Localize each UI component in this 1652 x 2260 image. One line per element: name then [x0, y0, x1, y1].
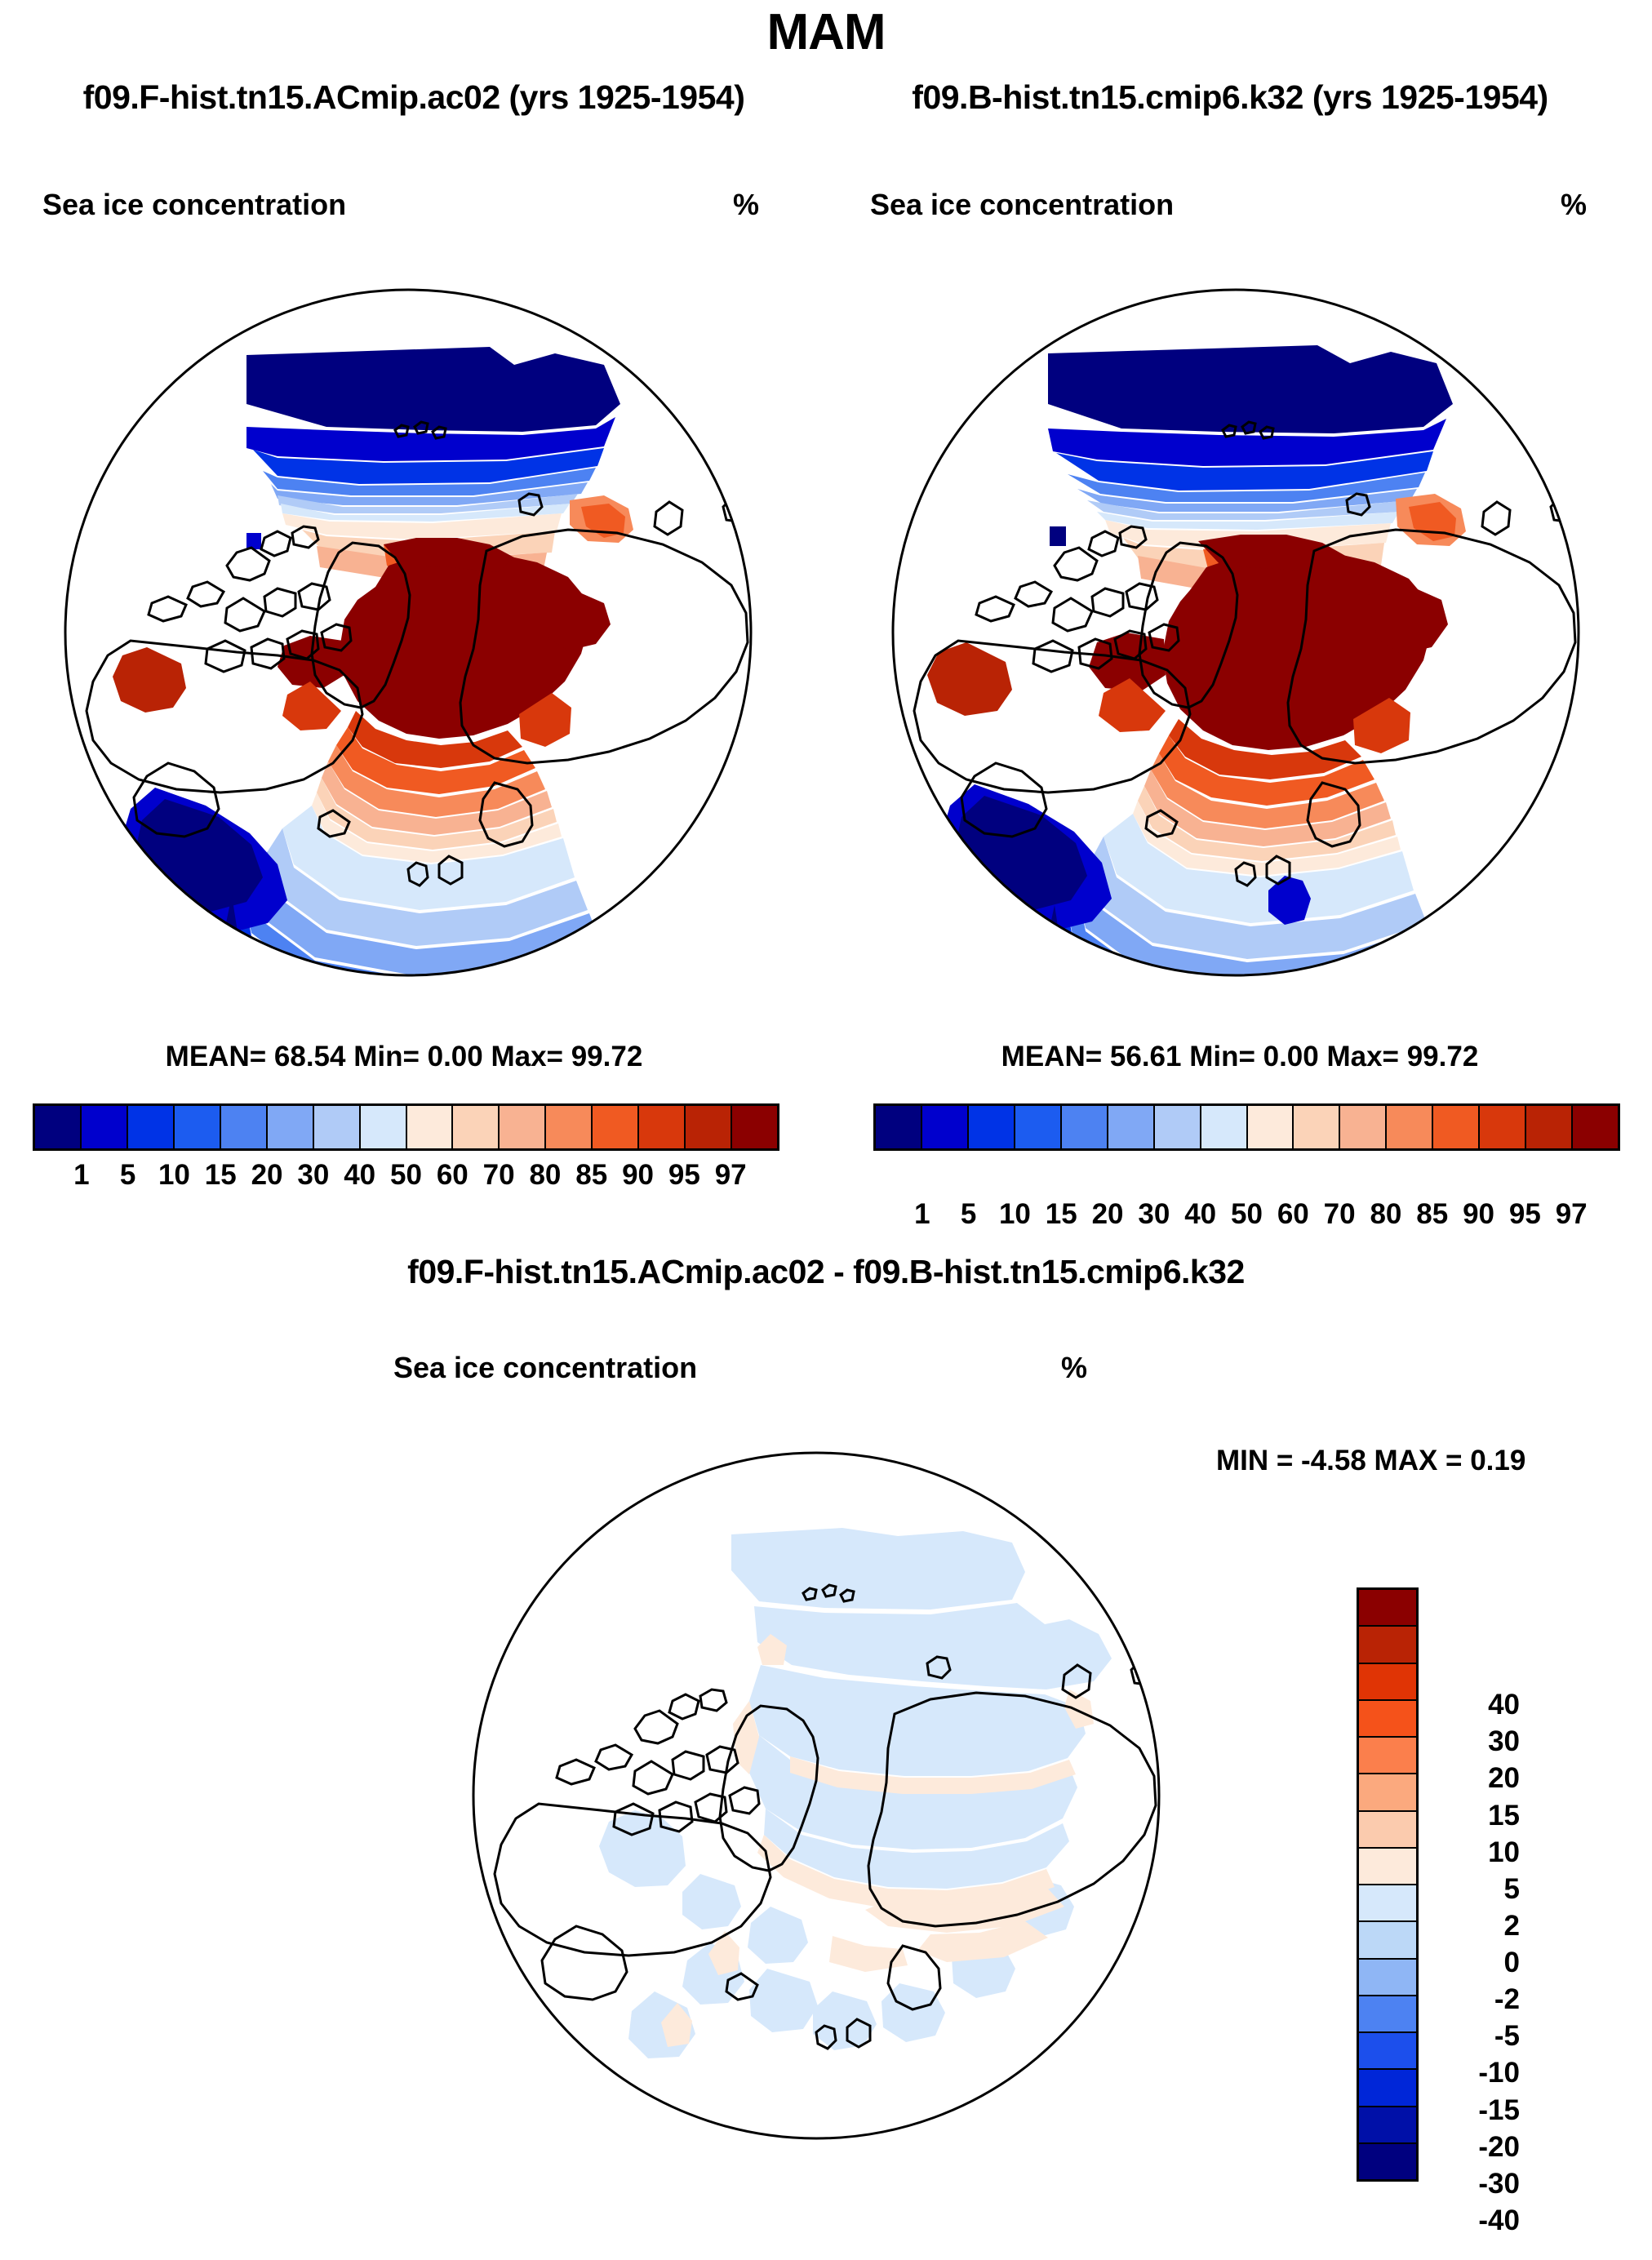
colorbar-tick-label: -5	[1430, 2020, 1520, 2053]
colorbar-tick-label: 15	[205, 1159, 237, 1192]
colorbar-cell	[732, 1106, 777, 1148]
colorbar-cell	[1433, 1106, 1480, 1148]
colorbar-cell	[1015, 1106, 1062, 1148]
colorbar-tick-label: 15	[1046, 1198, 1077, 1231]
colorbar-tick-label: 20	[1430, 1762, 1520, 1795]
colorbar-tick-label: 20	[1092, 1198, 1124, 1231]
colorbar-tick-label: -20	[1430, 2131, 1520, 2164]
left-panel-header: Sea ice concentration %	[0, 188, 808, 229]
map-left-sea-ice-concentration	[33, 257, 784, 1008]
colorbar-cell	[407, 1106, 454, 1148]
colorbar-cell	[1359, 1627, 1416, 1663]
left-units-label: %	[733, 188, 759, 222]
colorbar-tick-label: 70	[1324, 1198, 1356, 1231]
left-ice-field	[113, 347, 633, 1008]
right-variable-label: Sea ice concentration	[870, 188, 1174, 222]
colorbar-tick-label: 30	[297, 1159, 329, 1192]
colorbar-tick-label: 40	[1184, 1198, 1216, 1231]
left-stats: MEAN= 68.54 Min= 0.00 Max= 99.72	[0, 1041, 808, 1073]
colorbar-tick-label: 50	[390, 1159, 422, 1192]
colorbar-cell	[1108, 1106, 1155, 1148]
colorbar-tick-label: 10	[158, 1159, 190, 1192]
colorbar-cell	[593, 1106, 639, 1148]
colorbar-cell	[1155, 1106, 1201, 1148]
colorbar-tick-label: 5	[120, 1159, 135, 1192]
colorbar-cell	[35, 1106, 82, 1148]
colorbar-cell	[1340, 1106, 1387, 1148]
colorbar-tick-label: 60	[1277, 1198, 1309, 1231]
colorbar-cell	[268, 1106, 314, 1148]
colorbar-cell	[922, 1106, 969, 1148]
colorbar-cell	[1359, 1590, 1416, 1627]
colorbar-tick-label: 30	[1430, 1725, 1520, 1758]
colorbar-cell	[82, 1106, 128, 1148]
colorbar-cell	[686, 1106, 732, 1148]
colorbar-tick-label: -40	[1430, 2204, 1520, 2237]
difference-title: f09.F-hist.tn15.ACmip.ac02 - f09.B-hist.…	[0, 1253, 1652, 1291]
colorbar-cell	[1359, 2033, 1416, 2070]
colorbar-cell	[1359, 1701, 1416, 1738]
colorbar-cell	[453, 1106, 500, 1148]
colorbar-tick-label: -2	[1430, 1983, 1520, 2016]
colorbar-tick-label: 30	[1138, 1198, 1170, 1231]
case-titles-row: f09.F-hist.tn15.ACmip.ac02 (yrs 1925-195…	[0, 78, 1652, 117]
difference-panel-header: Sea ice concentration %	[351, 1351, 1175, 1392]
colorbar-tick-label: 85	[575, 1159, 607, 1192]
colorbar-tick-label: 1	[73, 1159, 89, 1192]
right-panel-header: Sea ice concentration %	[828, 188, 1652, 229]
map-difference-svg	[441, 1420, 1192, 2171]
right-ice-field	[927, 345, 1466, 1008]
right-colorbar-ticks: 1510152030405060708085909597	[873, 1198, 1620, 1237]
colorbar-cell	[1359, 2107, 1416, 2144]
colorbar-tick-label: 20	[251, 1159, 283, 1192]
colorbar-tick-label: -15	[1430, 2094, 1520, 2127]
colorbar-cell	[221, 1106, 268, 1148]
colorbar-cell	[546, 1106, 593, 1148]
colorbar-cell	[1201, 1106, 1248, 1148]
colorbar-cell	[1294, 1106, 1340, 1148]
colorbar-cell	[876, 1106, 922, 1148]
colorbar-tick-label: 1	[914, 1198, 930, 1231]
colorbar-tick-label: 0	[1430, 1947, 1520, 1979]
colorbar-cell	[639, 1106, 686, 1148]
map-right-sea-ice-concentration	[860, 257, 1611, 1008]
left-colorbar	[33, 1103, 779, 1151]
colorbar-cell	[1359, 1922, 1416, 1959]
colorbar-tick-label: 5	[961, 1198, 976, 1231]
colorbar-tick-label: 85	[1416, 1198, 1448, 1231]
season-title: MAM	[0, 3, 1652, 61]
difference-colorbar-ticks: 4030201510520-2-5-10-15-20-30-40	[1430, 1666, 1528, 2260]
colorbar-tick-label: 10	[999, 1198, 1031, 1231]
colorbar-cell	[1526, 1106, 1573, 1148]
colorbar-cell	[1359, 1738, 1416, 1774]
colorbar-tick-label: 95	[1509, 1198, 1541, 1231]
map-right-svg	[860, 257, 1611, 1008]
colorbar-tick-label: 50	[1231, 1198, 1263, 1231]
difference-minmax: MIN = -4.58 MAX = 0.19	[1216, 1445, 1525, 1477]
colorbar-cell	[1359, 1996, 1416, 2033]
colorbar-cell	[1387, 1106, 1433, 1148]
colorbar-tick-label: 97	[715, 1159, 747, 1192]
left-variable-label: Sea ice concentration	[42, 188, 346, 222]
colorbar-cell	[1359, 1812, 1416, 1849]
colorbar-cell	[1573, 1106, 1618, 1148]
right-units-label: %	[1561, 188, 1587, 222]
colorbar-tick-label: 40	[1430, 1689, 1520, 1721]
colorbar-cell	[361, 1106, 407, 1148]
colorbar-tick-label: 2	[1430, 1910, 1520, 1943]
colorbar-cell	[1062, 1106, 1108, 1148]
colorbar-cell	[1359, 2144, 1416, 2179]
case-right-title: f09.B-hist.tn15.cmip6.k32 (yrs 1925-1954…	[818, 78, 1642, 117]
colorbar-tick-label: 95	[668, 1159, 700, 1192]
colorbar-cell	[1359, 1960, 1416, 1996]
colorbar-tick-label: 80	[1370, 1198, 1401, 1231]
colorbar-cell	[128, 1106, 175, 1148]
colorbar-cell	[1359, 1885, 1416, 1922]
colorbar-cell	[1359, 1849, 1416, 1885]
colorbar-cell	[1480, 1106, 1526, 1148]
colorbar-tick-label: 97	[1556, 1198, 1588, 1231]
colorbar-tick-label: 10	[1430, 1836, 1520, 1869]
colorbar-tick-label: 15	[1430, 1800, 1520, 1832]
colorbar-cell	[1359, 1774, 1416, 1811]
colorbar-tick-label: 80	[529, 1159, 561, 1192]
colorbar-tick-label: -10	[1430, 2057, 1520, 2089]
colorbar-tick-label: 90	[622, 1159, 654, 1192]
colorbar-tick-label: 5	[1430, 1873, 1520, 1906]
right-stats: MEAN= 56.61 Min= 0.00 Max= 99.72	[828, 1041, 1652, 1073]
colorbar-cell	[500, 1106, 546, 1148]
right-colorbar	[873, 1103, 1620, 1151]
colorbar-tick-label: 90	[1463, 1198, 1494, 1231]
difference-colorbar	[1357, 1587, 1419, 2182]
colorbar-cell	[1248, 1106, 1295, 1148]
colorbar-cell	[175, 1106, 221, 1148]
map-left-svg	[33, 257, 784, 1008]
colorbar-tick-label: 60	[437, 1159, 469, 1192]
difference-units-label: %	[1061, 1351, 1087, 1385]
colorbar-cell	[1359, 1664, 1416, 1701]
case-left-title: f09.F-hist.tn15.ACmip.ac02 (yrs 1925-195…	[10, 78, 818, 117]
left-colorbar-ticks: 1510152030405060708085909597	[33, 1159, 779, 1198]
colorbar-tick-label: 40	[344, 1159, 375, 1192]
colorbar-cell	[314, 1106, 361, 1148]
difference-variable-label: Sea ice concentration	[393, 1351, 697, 1385]
difference-field	[599, 1528, 1112, 2058]
colorbar-cell	[969, 1106, 1015, 1148]
map-difference-sea-ice-concentration	[441, 1420, 1192, 2171]
colorbar-tick-label: 70	[483, 1159, 515, 1192]
colorbar-cell	[1359, 2070, 1416, 2107]
